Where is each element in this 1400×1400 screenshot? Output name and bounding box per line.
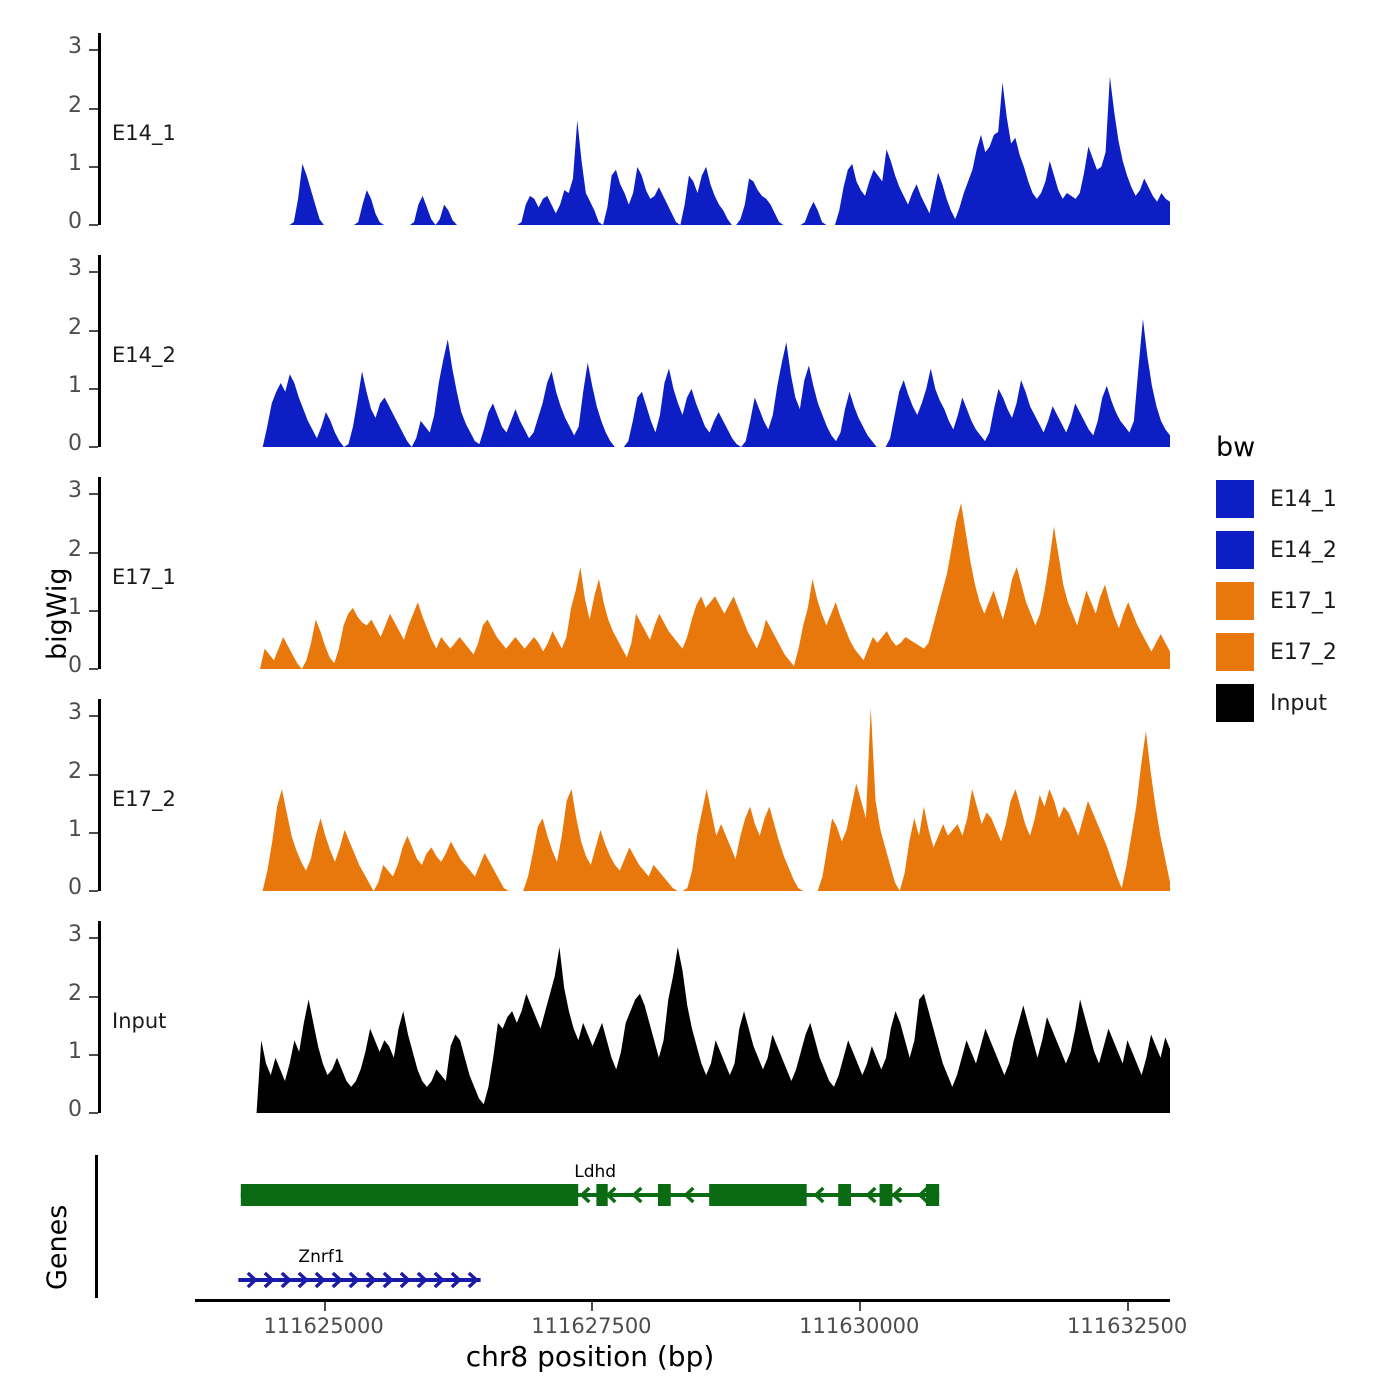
y-tick-label: 1 bbox=[40, 595, 82, 620]
y-tick-mark bbox=[89, 330, 98, 332]
x-axis-title: chr8 position (bp) bbox=[0, 1340, 1180, 1373]
y-axis-title-genes: Genes bbox=[42, 1205, 73, 1290]
legend-label-e14_1: E14_1 bbox=[1270, 487, 1337, 512]
y-tick-mark bbox=[89, 49, 98, 51]
y-axis-line bbox=[98, 477, 101, 669]
x-tick-mark bbox=[591, 1302, 593, 1311]
legend-swatch-e17_1 bbox=[1216, 582, 1254, 620]
y-tick-label: 0 bbox=[40, 1097, 82, 1122]
y-tick-mark bbox=[89, 271, 98, 273]
y-tick-label: 3 bbox=[40, 256, 82, 281]
legend-label-input: Input bbox=[1270, 691, 1327, 716]
y-tick-label: 1 bbox=[40, 151, 82, 176]
y-tick-mark bbox=[89, 1112, 98, 1114]
x-tick-label: 111625000 bbox=[234, 1314, 414, 1338]
y-tick-label: 3 bbox=[40, 700, 82, 725]
y-tick-mark bbox=[89, 552, 98, 554]
y-tick-label: 2 bbox=[40, 315, 82, 340]
signal-area-input bbox=[195, 921, 1170, 1113]
track-panel-e14_2: 0123E14_2 bbox=[0, 255, 1180, 455]
track-panel-e17_1: 0123E17_1 bbox=[0, 477, 1180, 677]
y-tick-mark bbox=[89, 890, 98, 892]
track-label-e17_1: E17_1 bbox=[112, 565, 176, 589]
y-tick-label: 0 bbox=[40, 431, 82, 456]
y-tick-mark bbox=[89, 774, 98, 776]
y-tick-mark bbox=[89, 715, 98, 717]
y-tick-mark bbox=[89, 224, 98, 226]
legend-label-e17_2: E17_2 bbox=[1270, 640, 1337, 665]
legend-swatch-e14_2 bbox=[1216, 531, 1254, 569]
genes-layer: LdhdZnrf1 bbox=[195, 1155, 1180, 1300]
y-tick-label: 3 bbox=[40, 34, 82, 59]
y-tick-mark bbox=[89, 166, 98, 168]
legend-item-e14_2[interactable]: E14_2 bbox=[1216, 531, 1337, 569]
y-tick-label: 2 bbox=[40, 537, 82, 562]
legend-title: bw bbox=[1216, 432, 1255, 463]
gene-znrf1[interactable]: Znrf1 bbox=[195, 1155, 1180, 1300]
signal-area-e14_2 bbox=[195, 255, 1170, 447]
y-tick-label: 3 bbox=[40, 478, 82, 503]
track-panel-e14_1: 0123E14_1 bbox=[0, 33, 1180, 233]
y-tick-mark bbox=[89, 1054, 98, 1056]
y-tick-label: 2 bbox=[40, 759, 82, 784]
legend-item-e17_2[interactable]: E17_2 bbox=[1216, 633, 1337, 671]
legend-swatch-input bbox=[1216, 684, 1254, 722]
signal-area-e17_1 bbox=[195, 477, 1170, 669]
y-tick-mark bbox=[89, 610, 98, 612]
y-tick-mark bbox=[89, 446, 98, 448]
y-axis-line bbox=[98, 699, 101, 891]
x-tick-label: 111632500 bbox=[1037, 1314, 1217, 1338]
y-tick-label: 2 bbox=[40, 93, 82, 118]
legend-swatch-e14_1 bbox=[1216, 480, 1254, 518]
track-panel-e17_2: 0123E17_2 bbox=[0, 699, 1180, 899]
x-tick-mark bbox=[1127, 1302, 1129, 1311]
y-axis-line bbox=[98, 921, 101, 1113]
y-tick-mark bbox=[89, 832, 98, 834]
track-label-e17_2: E17_2 bbox=[112, 787, 176, 811]
gene-label-znrf1: Znrf1 bbox=[298, 1247, 344, 1267]
signal-area-e17_2 bbox=[195, 699, 1170, 891]
track-panel-input: 0123Input bbox=[0, 921, 1180, 1121]
legend-swatch-e17_2 bbox=[1216, 633, 1254, 671]
y-tick-mark bbox=[89, 996, 98, 998]
y-tick-label: 1 bbox=[40, 817, 82, 842]
track-label-e14_2: E14_2 bbox=[112, 343, 176, 367]
y-tick-label: 1 bbox=[40, 1039, 82, 1064]
x-tick-label: 111630000 bbox=[769, 1314, 949, 1338]
y-tick-mark bbox=[89, 668, 98, 670]
track-label-input: Input bbox=[112, 1009, 166, 1033]
x-tick-mark bbox=[324, 1302, 326, 1311]
signal-area-e14_1 bbox=[195, 33, 1170, 225]
legend-item-input[interactable]: Input bbox=[1216, 684, 1327, 722]
y-tick-label: 0 bbox=[40, 653, 82, 678]
legend-label-e14_2: E14_2 bbox=[1270, 538, 1337, 563]
legend-item-e14_1[interactable]: E14_1 bbox=[1216, 480, 1337, 518]
y-tick-label: 0 bbox=[40, 875, 82, 900]
y-tick-label: 2 bbox=[40, 981, 82, 1006]
legend-label-e17_1: E17_1 bbox=[1270, 589, 1337, 614]
legend: bw E14_1E14_2E17_1E17_2Input bbox=[1212, 432, 1392, 712]
y-tick-mark bbox=[89, 493, 98, 495]
y-tick-mark bbox=[89, 388, 98, 390]
genes-y-axis-line bbox=[95, 1155, 98, 1298]
y-axis-line bbox=[98, 33, 101, 225]
x-tick-label: 111627500 bbox=[501, 1314, 681, 1338]
track-label-e14_1: E14_1 bbox=[112, 121, 176, 145]
y-tick-mark bbox=[89, 937, 98, 939]
x-tick-mark bbox=[859, 1302, 861, 1311]
y-tick-label: 0 bbox=[40, 209, 82, 234]
gene-glyph-znrf1 bbox=[195, 1155, 1180, 1300]
legend-item-e17_1[interactable]: E17_1 bbox=[1216, 582, 1337, 620]
y-axis-line bbox=[98, 255, 101, 447]
y-tick-label: 3 bbox=[40, 922, 82, 947]
genes-panel: LdhdZnrf1 bbox=[95, 1155, 1180, 1300]
y-tick-mark bbox=[89, 108, 98, 110]
y-tick-label: 1 bbox=[40, 373, 82, 398]
x-axis-line bbox=[195, 1299, 1170, 1302]
